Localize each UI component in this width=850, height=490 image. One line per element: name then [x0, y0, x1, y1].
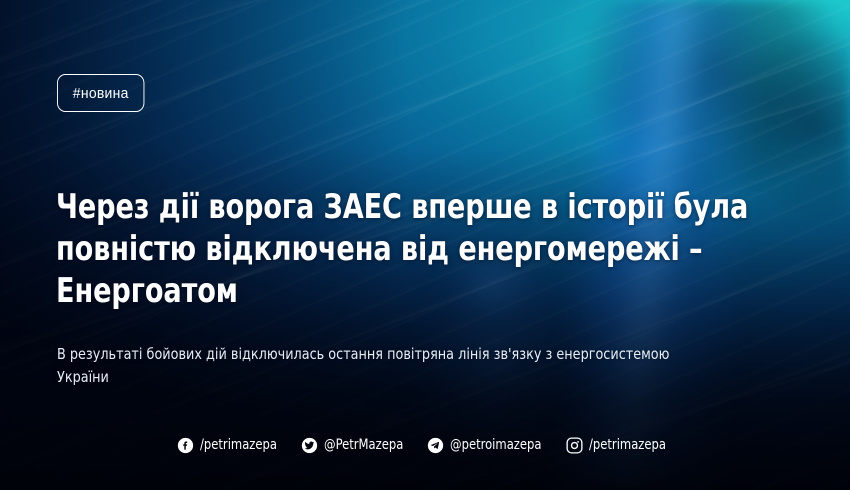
headline: Через дії ворога ЗАЕС вперше в історії б… [56, 186, 686, 312]
social-links-bar: /petrimazepa @PetrMazepa @petroimazepa [0, 437, 850, 454]
subtitle-line-2: України [57, 366, 738, 389]
category-badge-label: #новина [73, 85, 129, 102]
twitter-icon [301, 437, 318, 454]
social-link-twitter[interactable]: @PetrMazepa [301, 437, 410, 454]
headline-line-2: повністю відключена від енергомережі – [56, 228, 686, 270]
social-link-telegram[interactable]: @petroimazepa [427, 437, 549, 454]
telegram-icon [427, 437, 444, 454]
instagram-icon [566, 437, 583, 454]
facebook-icon [177, 437, 194, 454]
social-link-facebook[interactable]: /petrimazepa [177, 437, 284, 454]
instagram-handle: /petrimazepa [589, 437, 666, 454]
subtitle: В результаті бойових дій відключилась ос… [57, 343, 738, 389]
headline-line-1: Через дії ворога ЗАЕС вперше в історії б… [56, 186, 686, 228]
headline-line-3: Енергоатом [56, 270, 686, 312]
telegram-handle: @petroimazepa [450, 437, 541, 454]
news-share-card: #новина Через дії ворога ЗАЕС вперше в і… [0, 0, 850, 490]
category-badge[interactable]: #новина [57, 74, 144, 112]
subtitle-line-1: В результаті бойових дій відключилась ос… [57, 343, 738, 366]
facebook-handle: /petrimazepa [200, 437, 277, 454]
twitter-handle: @PetrMazepa [324, 437, 403, 454]
card-content: #новина Через дії ворога ЗАЕС вперше в і… [0, 0, 850, 490]
social-link-instagram[interactable]: /petrimazepa [566, 437, 673, 454]
